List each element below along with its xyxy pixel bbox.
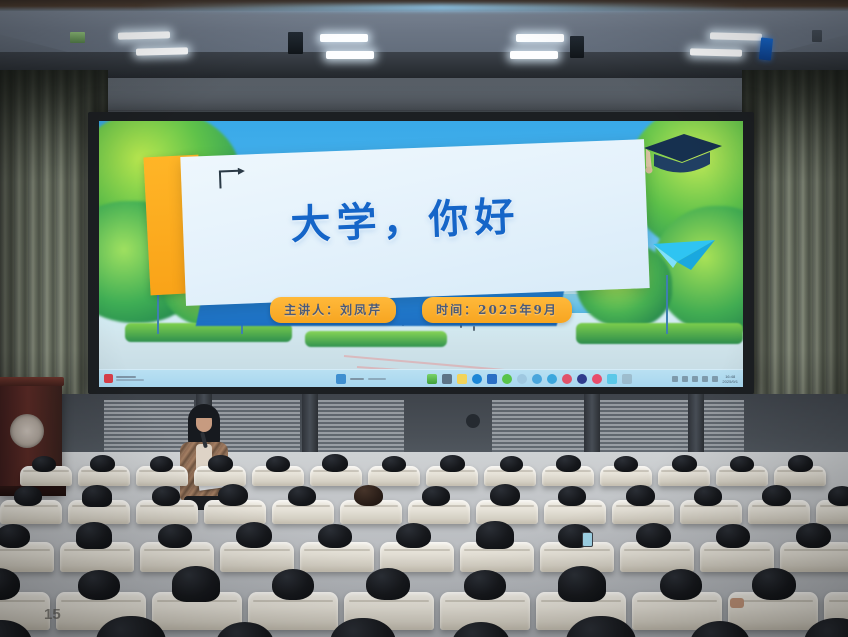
audience-head [288,486,316,506]
audience-head [208,455,233,472]
audience-head [354,485,383,506]
calendar-icon[interactable] [622,374,632,384]
wall-pillar [302,394,318,454]
audience-head [476,521,514,549]
taskbar-open-document[interactable] [99,374,336,383]
audience-head [694,486,722,506]
ceiling-light [326,51,374,59]
audience-phone [582,532,593,547]
audience-head [322,454,348,472]
seat-number: 15 [44,606,61,623]
ceiling-vent [812,30,822,42]
ceiling-light [320,34,368,42]
school-crest-icon [10,414,44,448]
audience-head [614,456,638,472]
mail-icon[interactable] [517,374,527,384]
ceiling-light [690,48,742,56]
audience-head [318,524,352,548]
slide-title-card: 大学，你好 [180,139,649,306]
ceiling-light [118,31,170,39]
wechat-icon[interactable] [502,374,512,384]
taskbar-system-tray[interactable]: 16:48 2025/9/1 [672,374,743,384]
wall-pillar [584,394,600,454]
audience-head [366,568,410,600]
taskbar-pinned-apps[interactable] [386,374,673,384]
volume-icon[interactable] [692,376,698,382]
audience-head [158,524,192,548]
ceiling-light [516,34,564,42]
audience-head [752,568,796,600]
audience-head [672,455,697,472]
ceiling-light [510,51,558,59]
chevron-up-icon[interactable] [672,376,678,382]
audience-head [76,522,112,549]
audience-head [788,455,813,472]
audience-head [14,486,42,506]
audience-head [558,566,606,602]
audience-head [32,456,56,472]
audience-hand [730,598,744,608]
network-icon[interactable] [682,376,688,382]
audience-head [828,486,848,506]
projection-screen[interactable]: 大学，你好 主讲人：刘凤芹 时间：2025年9月 [99,121,743,387]
audience-head [152,486,180,506]
audience-head [422,486,450,506]
slide-title: 大学，你好 [182,180,629,255]
projection-screen-frame: 大学，你好 主讲人：刘凤芹 时间：2025年9月 [88,112,754,394]
audience-head [172,566,220,602]
wall-vent-grille [598,400,688,452]
audience-head [440,455,465,472]
taskbar-document-label [116,376,144,381]
player-icon[interactable] [607,374,617,384]
audience-head [636,523,671,548]
browser-icon[interactable] [547,374,557,384]
slide-hedge [305,331,447,347]
windows-taskbar[interactable]: 16:48 2025/9/1 [99,369,743,387]
audience-head [464,570,506,600]
speaker-badge: 主讲人：刘凤芹 [270,297,396,323]
ceiling-vent [570,36,584,58]
notes-icon[interactable] [457,374,467,384]
audience-head [762,485,791,506]
audience-seating: 15 [0,452,848,637]
wall-vent-grille [316,400,404,452]
audience-head [218,484,248,506]
ceiling-light [136,47,188,55]
battery-icon[interactable] [702,376,708,382]
auditorium-photo: 大学，你好 主讲人：刘凤芹 时间：2025年9月 [0,0,848,637]
audience-head [558,486,586,506]
wall-vent-grille [492,400,584,452]
ceiling-indicator [759,37,773,60]
audience-head [90,455,115,472]
music-icon[interactable] [562,374,572,384]
audience-head [150,456,173,472]
audience-head [236,522,272,548]
ceiling-sensor [70,32,85,43]
audience-head [556,455,581,472]
camera-icon[interactable] [532,374,542,384]
corner-arrow-icon [218,167,247,190]
audience-head [272,569,314,600]
store-icon[interactable] [487,374,497,384]
wall-speaker [466,414,480,428]
audience-head [500,456,523,472]
slide-hedge [576,323,743,344]
video-icon[interactable] [577,374,587,384]
ceiling-vent [288,32,303,54]
audience-head [660,569,702,600]
audience-head [490,484,520,506]
audience-head [626,485,655,506]
folder-icon[interactable] [442,374,452,384]
audience-head [396,523,431,548]
audience-head [266,456,290,472]
paper-plane-icon [651,238,717,272]
edge-icon[interactable] [472,374,482,384]
audience-head [382,456,406,472]
taskbar-clock[interactable]: 16:48 2025/9/1 [722,374,738,384]
slide-badge-row: 主讲人：刘凤芹 时间：2025年9月 [99,297,743,323]
audience-head [82,485,112,507]
audience-head [730,456,754,472]
date-badge: 时间：2025年9月 [422,297,572,323]
audience-head [0,524,30,548]
qq-icon[interactable] [592,374,602,384]
wall-pillar [688,394,704,454]
ime-icon[interactable] [712,376,718,382]
slide-hedge [125,323,292,342]
taskbar-search-group[interactable] [336,374,386,384]
wps-document-icon [104,374,113,383]
search-icon[interactable] [336,374,346,384]
audience-head [716,524,750,548]
wall-vent-grille [700,400,744,452]
file-explorer-icon[interactable] [427,374,437,384]
ceiling [0,0,848,78]
audience-head [78,570,120,600]
audience-head [796,523,831,548]
ceiling-light [710,32,762,40]
graduation-cap-icon [640,132,724,188]
